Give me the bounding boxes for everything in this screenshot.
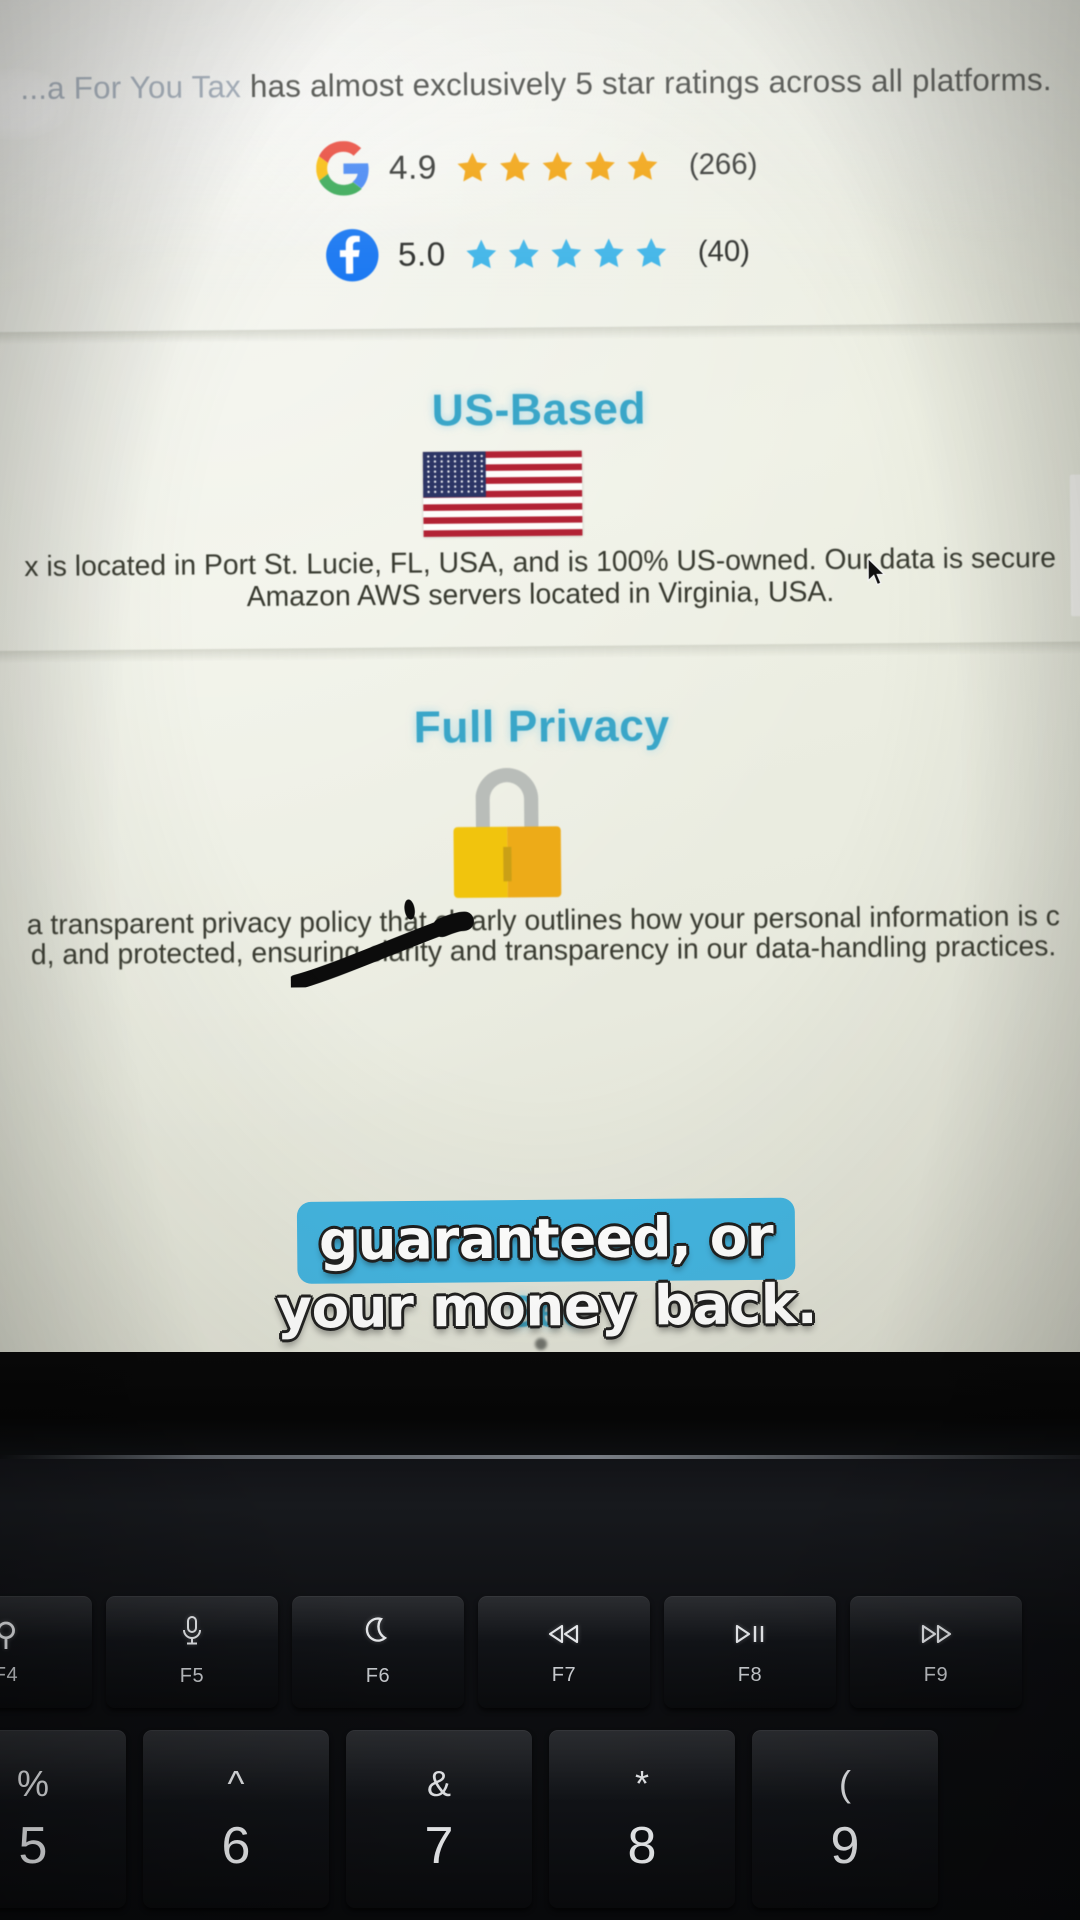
section-body-us-based-line2: Amazon AWS servers located in Virginia, … — [0, 570, 1080, 620]
section-body-full-privacy-line2: d, and protected, ensuring clarity and t… — [0, 926, 1080, 976]
key-f9[interactable]: F9 — [850, 1596, 1022, 1708]
key-f9-label: F9 — [924, 1664, 949, 1687]
key-8[interactable]: * 8 — [549, 1730, 735, 1908]
play-pause-icon — [733, 1618, 767, 1650]
annotation-arrow — [290, 874, 524, 987]
key-f7-label: F7 — [552, 1664, 577, 1687]
headline-rest: has almost exclusively 5 star ratings ac… — [241, 62, 1052, 104]
key-6-shift-label: ^ — [228, 1766, 245, 1802]
key-f6[interactable]: F6 — [292, 1596, 464, 1708]
us-flag-icon — [423, 451, 583, 537]
laptop-screen: ...a For You Tax has almost exclusively … — [0, 0, 1080, 1352]
ratings-list: 4.9 (266) — [0, 118, 1080, 302]
google-star-rating — [455, 148, 661, 185]
key-f4-label: F4 — [0, 1664, 18, 1687]
rewind-icon — [547, 1618, 581, 1650]
key-7-shift-label: & — [427, 1766, 451, 1802]
key-5[interactable]: % 5 — [0, 1730, 126, 1908]
fast-forward-icon — [919, 1618, 953, 1650]
photo-of-laptop: ...a For You Tax has almost exclusively … — [0, 0, 1080, 1920]
key-8-shift-label: * — [635, 1766, 649, 1802]
search-icon: ⚲ — [0, 1618, 18, 1650]
key-5-label: 5 — [19, 1820, 48, 1872]
key-f8-label: F8 — [738, 1664, 763, 1687]
facebook-review-count: (40) — [698, 235, 750, 269]
section-title-full-privacy: Full Privacy — [0, 697, 1080, 757]
key-f5[interactable]: F5 — [106, 1596, 278, 1708]
number-key-row: % 5 ^ 6 & 7 * 8 ( 9 — [0, 1730, 1080, 1908]
caption-line-2: your money back. — [0, 1269, 1080, 1345]
microphone-icon — [181, 1616, 203, 1651]
page-scrollbar-thumb[interactable] — [1070, 475, 1080, 617]
key-9-shift-label: ( — [839, 1766, 851, 1802]
key-5-shift-label: % — [17, 1766, 49, 1802]
key-9[interactable]: ( 9 — [752, 1730, 938, 1908]
google-rating-score: 4.9 — [389, 148, 437, 187]
section-divider-2 — [0, 641, 1080, 663]
google-review-count: (266) — [689, 148, 758, 182]
function-key-row: ⚲ F4 F5 F6 — [0, 1596, 1080, 1708]
key-f8[interactable]: F8 — [664, 1596, 836, 1708]
facebook-rating-score: 5.0 — [398, 235, 446, 274]
key-6-label: 6 — [222, 1820, 251, 1872]
facebook-icon — [325, 228, 380, 283]
section-title-us-based: US-Based — [0, 380, 1080, 440]
key-f4[interactable]: ⚲ F4 — [0, 1596, 92, 1708]
brand-name: ...a For You Tax — [20, 69, 241, 106]
key-f5-label: F5 — [180, 1665, 205, 1688]
key-7[interactable]: & 7 — [346, 1730, 532, 1908]
key-7-label: 7 — [425, 1820, 454, 1872]
facebook-star-rating — [464, 235, 670, 272]
key-f7[interactable]: F7 — [478, 1596, 650, 1708]
key-f6-label: F6 — [366, 1665, 391, 1688]
caption-plain: your money back. — [266, 1271, 827, 1342]
rating-row-google[interactable]: 4.9 (266) — [0, 118, 1080, 215]
key-8-label: 8 — [628, 1820, 657, 1872]
laptop-bezel — [0, 1352, 1080, 1472]
bezel-reflection-dot — [535, 1338, 547, 1350]
moon-icon — [364, 1616, 392, 1651]
key-6[interactable]: ^ 6 — [143, 1730, 329, 1908]
google-icon — [316, 141, 371, 196]
section-divider-1 — [0, 323, 1080, 345]
key-9-label: 9 — [831, 1820, 860, 1872]
rating-row-facebook[interactable]: 5.0 (40) — [0, 205, 1080, 302]
mouse-cursor — [866, 557, 887, 588]
